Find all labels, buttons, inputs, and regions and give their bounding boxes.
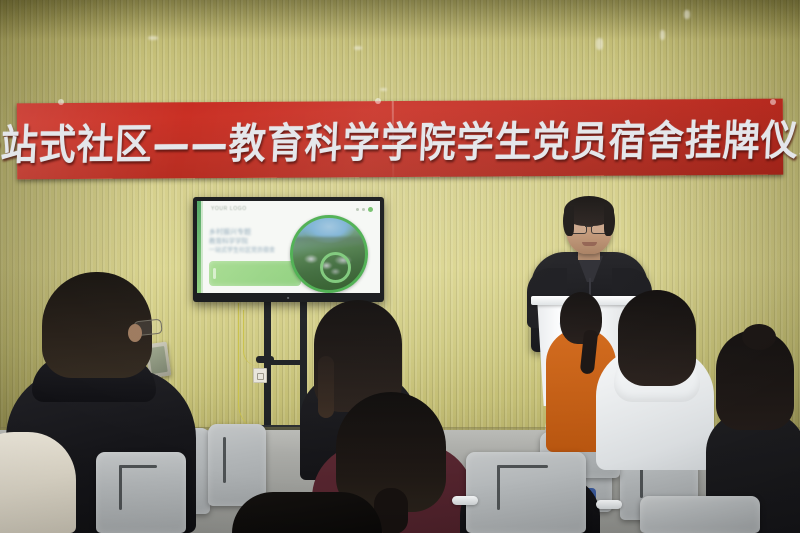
chair-backrest-slot [497, 465, 547, 468]
chair[interactable] [96, 452, 186, 533]
chair[interactable] [466, 452, 586, 533]
audience-hair [618, 290, 696, 386]
chair-backrest-slot [223, 437, 226, 483]
display-screen: YOUR LOGO 乡村振兴专题 教育科学学院 一站式学生社区党员宿舍 [197, 201, 380, 293]
display-brand-logo: ■ [287, 295, 290, 300]
chair-armrest [452, 496, 478, 505]
slide-green-panel-marker [213, 268, 216, 279]
banner-tack [375, 98, 381, 104]
event-banner: 一站式社区——教育科学学院学生党员宿舍挂牌仪式 [17, 99, 783, 180]
audience-hair-bun [742, 324, 776, 350]
chair-armrest [596, 500, 622, 509]
audience-torso [232, 492, 382, 533]
slide-dot-indicators [356, 207, 373, 212]
slide-decorative-ring [320, 252, 351, 283]
tv-stand-post-left [264, 300, 271, 430]
wall-scuff [148, 36, 158, 40]
speaker-hair-left [563, 206, 574, 236]
audience-member [232, 492, 382, 533]
wall-scuff [684, 10, 690, 19]
power-cable [243, 310, 258, 366]
audience-torso [0, 432, 76, 533]
banner-title: 一站式社区——教育科学学院学生党员宿舍挂牌仪式 [15, 94, 785, 184]
speaker-hair-right [604, 206, 615, 236]
wall-scuff [380, 88, 387, 91]
chair[interactable] [640, 496, 760, 533]
slide-logo-text: YOUR LOGO [211, 206, 247, 212]
speaker-mouth [582, 242, 597, 246]
chair-backrest-slot [119, 465, 122, 510]
wall-scuff [660, 30, 665, 40]
slide-accent-bar-secondary [201, 201, 203, 293]
banner-tack [58, 99, 64, 105]
chair-backrest-slot [497, 465, 500, 510]
slide-photo-ridge [293, 237, 365, 249]
wall-scuff [354, 46, 362, 50]
audience-member [596, 290, 714, 470]
wall-scuff [596, 38, 603, 50]
photo-scene: 一站式社区——教育科学学院学生党员宿舍挂牌仪式 YOUR LOGO 乡村振兴专题… [0, 0, 800, 533]
banner-tack [770, 99, 776, 105]
slide-green-panel [209, 261, 301, 286]
audience-ear [128, 324, 142, 342]
audience-member [0, 432, 76, 533]
chair-backrest-slot [119, 465, 157, 468]
chair-backrest [640, 496, 760, 533]
speaker-head [566, 200, 612, 254]
presentation-display[interactable]: YOUR LOGO 乡村振兴专题 教育科学学院 一站式学生社区党员宿舍 ■ [193, 197, 384, 302]
